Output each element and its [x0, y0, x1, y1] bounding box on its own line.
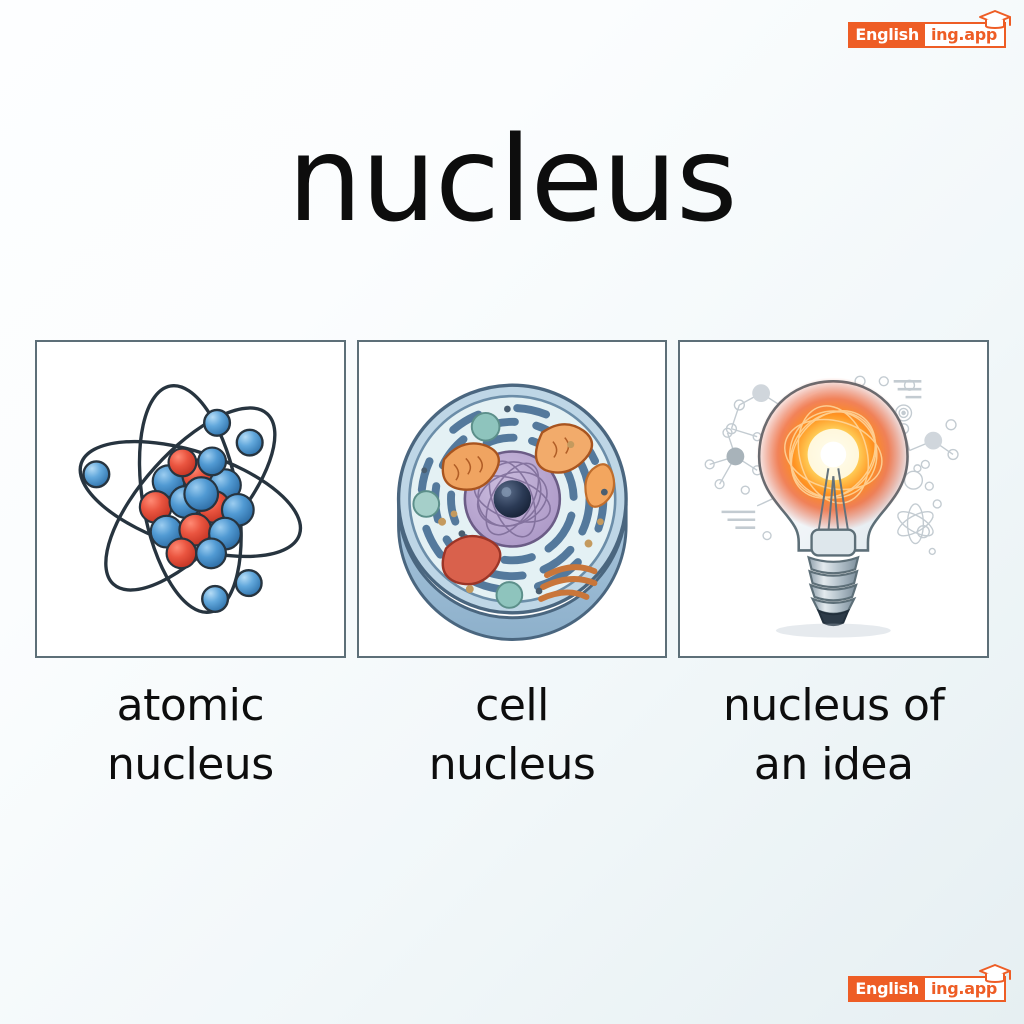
card-nucleus-of-an-idea[interactable]	[678, 340, 989, 658]
caption-line-2: an idea	[678, 735, 989, 794]
caption-line-2: nucleus	[357, 735, 668, 794]
graduation-cap-icon	[978, 9, 1012, 31]
page-title: nucleus	[0, 118, 1024, 242]
caption-nucleus-of-an-idea: nucleus of an idea	[678, 676, 989, 795]
lightbulb-idea-icon	[680, 342, 987, 656]
caption-atomic-nucleus: atomic nucleus	[35, 676, 346, 795]
caption-line-2: nucleus	[35, 735, 346, 794]
card-cell-nucleus[interactable]	[357, 340, 668, 658]
card-atomic-nucleus[interactable]	[35, 340, 346, 658]
atom-icon	[37, 342, 344, 656]
illustration-card-row	[35, 340, 989, 658]
caption-row: atomic nucleus cell nucleus nucleus of a…	[35, 676, 989, 795]
caption-line-1: cell	[475, 680, 549, 731]
brand-logo-top[interactable]: English ing.app	[848, 22, 1006, 48]
brand-logo-bottom[interactable]: English ing.app	[848, 976, 1006, 1002]
animal-cell-icon	[359, 342, 666, 656]
caption-line-1: atomic	[117, 680, 264, 731]
brand-name-left: English	[848, 22, 925, 48]
caption-line-1: nucleus of	[723, 680, 944, 731]
graduation-cap-icon	[978, 963, 1012, 985]
caption-cell-nucleus: cell nucleus	[357, 676, 668, 795]
brand-name-left: English	[848, 976, 925, 1002]
